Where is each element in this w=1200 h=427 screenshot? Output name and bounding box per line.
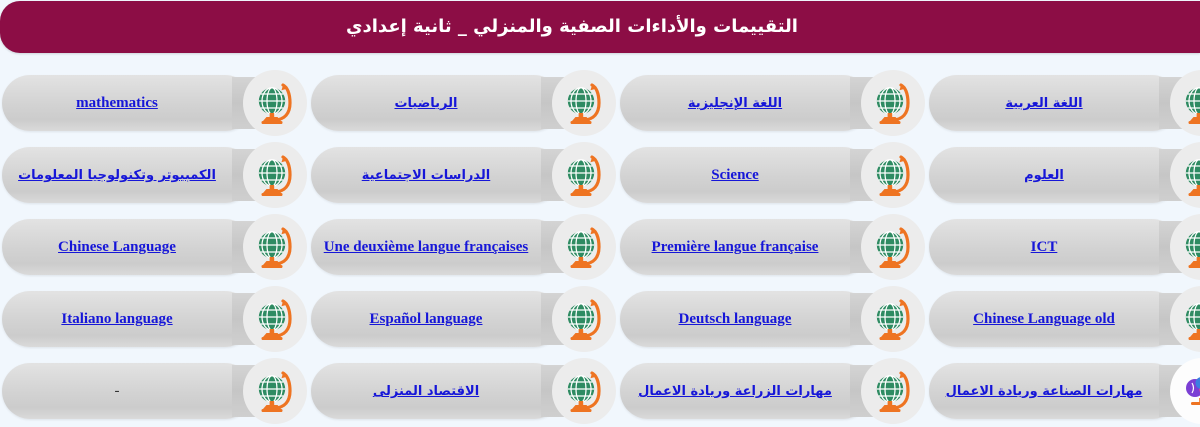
globe-icon[interactable] xyxy=(861,142,925,208)
subject-grid: mathematicsالرياضياتاللغة الإنجليزيةاللغ… xyxy=(0,67,1200,427)
subject-placeholder-text: - xyxy=(115,383,120,399)
subject-card[interactable]: Español language xyxy=(311,283,611,355)
subject-label-wrapper: Une deuxième langue françaises xyxy=(311,219,541,275)
globe-icon[interactable] xyxy=(861,70,925,136)
subject-card[interactable]: مهارات الصناعة وريادة الاعمال xyxy=(929,355,1200,427)
subject-label-wrapper: ICT xyxy=(929,219,1159,275)
subject-label-wrapper: العلوم xyxy=(929,147,1159,203)
subject-link[interactable]: الاقتصاد المنزلى xyxy=(373,384,479,399)
globe-icon[interactable] xyxy=(552,358,616,424)
page-title: التقييمات والأداءات الصفية والمنزلي _ ثا… xyxy=(0,1,1200,53)
subject-card[interactable]: Deutsch language xyxy=(620,283,920,355)
subject-label-wrapper: Italiano language xyxy=(2,291,232,347)
subject-row: mathematicsالرياضياتاللغة الإنجليزيةاللغ… xyxy=(0,67,1200,139)
subject-link[interactable]: اللغة الإنجليزية xyxy=(688,96,782,111)
subject-label-wrapper: اللغة العربية xyxy=(929,75,1159,131)
globe-icon[interactable] xyxy=(243,286,307,352)
subject-row: الكمبيوتر وتكنولوجيا المعلوماتالدراسات ا… xyxy=(0,139,1200,211)
subject-card[interactable]: Chinese Language old xyxy=(929,283,1200,355)
subject-link[interactable]: Español language xyxy=(370,311,483,327)
subject-card[interactable]: الرياضيات xyxy=(311,67,611,139)
subject-link[interactable]: الرياضيات xyxy=(394,96,457,111)
subject-link[interactable]: الدراسات الاجتماعية xyxy=(362,168,491,183)
subject-card[interactable]: Italiano language xyxy=(2,283,302,355)
subject-link[interactable]: Une deuxième langue françaises xyxy=(324,239,529,255)
subject-label-wrapper: الدراسات الاجتماعية xyxy=(311,147,541,203)
globe-icon[interactable] xyxy=(861,214,925,280)
subject-card[interactable]: اللغة الإنجليزية xyxy=(620,67,920,139)
subject-card[interactable]: Science xyxy=(620,139,920,211)
subject-row: -الاقتصاد المنزلىمهارات الزراعة وريادة ا… xyxy=(0,355,1200,427)
globe-icon[interactable] xyxy=(243,214,307,280)
subject-label-wrapper: الرياضيات xyxy=(311,75,541,131)
subject-card[interactable]: مهارات الزراعة وريادة الاعمال xyxy=(620,355,920,427)
subject-label-wrapper: Première langue française xyxy=(620,219,850,275)
subject-row: Italiano languageEspañol language Deutsc… xyxy=(0,283,1200,355)
globe-icon[interactable] xyxy=(243,70,307,136)
subject-card[interactable]: mathematics xyxy=(2,67,302,139)
subject-link[interactable]: ICT xyxy=(1031,239,1058,255)
subject-label-wrapper: Science xyxy=(620,147,850,203)
globe-icon[interactable] xyxy=(861,286,925,352)
subject-link[interactable]: مهارات الزراعة وريادة الاعمال xyxy=(638,384,832,399)
subject-label-wrapper: Español language xyxy=(311,291,541,347)
subject-link[interactable]: مهارات الصناعة وريادة الاعمال xyxy=(946,384,1143,399)
subject-link[interactable]: Italiano language xyxy=(61,311,172,327)
subject-link[interactable]: العلوم xyxy=(1024,168,1064,183)
globe-icon[interactable] xyxy=(552,214,616,280)
globe-icon[interactable] xyxy=(243,142,307,208)
subject-card[interactable]: Première langue française xyxy=(620,211,920,283)
subject-link[interactable]: اللغة العربية xyxy=(1005,96,1082,111)
subject-card[interactable]: اللغة العربية xyxy=(929,67,1200,139)
subject-label-wrapper: Chinese Language xyxy=(2,219,232,275)
subject-card[interactable]: Une deuxième langue françaises xyxy=(311,211,611,283)
globe-icon[interactable] xyxy=(552,286,616,352)
subject-card[interactable]: - xyxy=(2,355,302,427)
subject-link[interactable]: Deutsch language xyxy=(679,311,792,327)
subject-label-wrapper: مهارات الزراعة وريادة الاعمال xyxy=(620,363,850,419)
subject-label-wrapper: mathematics xyxy=(2,75,232,131)
subject-link[interactable]: Première langue française xyxy=(652,239,819,255)
subject-link[interactable]: Chinese Language old xyxy=(973,311,1115,327)
subject-card[interactable]: الدراسات الاجتماعية xyxy=(311,139,611,211)
subject-label-wrapper: الاقتصاد المنزلى xyxy=(311,363,541,419)
subject-card[interactable]: الاقتصاد المنزلى xyxy=(311,355,611,427)
subject-link[interactable]: Chinese Language xyxy=(58,239,176,255)
subject-link[interactable]: Science xyxy=(711,167,758,183)
subject-label-wrapper: اللغة الإنجليزية xyxy=(620,75,850,131)
subject-card[interactable]: ICT xyxy=(929,211,1200,283)
subject-card[interactable]: العلوم xyxy=(929,139,1200,211)
globe-icon[interactable] xyxy=(861,358,925,424)
subject-label-wrapper: الكمبيوتر وتكنولوجيا المعلومات xyxy=(2,147,232,203)
page-header-banner: التقييمات والأداءات الصفية والمنزلي _ ثا… xyxy=(0,1,1200,53)
subject-label-wrapper: Deutsch language xyxy=(620,291,850,347)
subject-label-wrapper: مهارات الصناعة وريادة الاعمال xyxy=(929,363,1159,419)
globe-icon[interactable] xyxy=(243,358,307,424)
subject-label-wrapper: Chinese Language old xyxy=(929,291,1159,347)
subject-label-wrapper: - xyxy=(2,363,232,419)
subject-row: Chinese LanguageUne deuxième langue fran… xyxy=(0,211,1200,283)
globe-icon[interactable] xyxy=(552,70,616,136)
subject-link[interactable]: mathematics xyxy=(76,95,158,111)
globe-icon[interactable] xyxy=(552,142,616,208)
subject-card[interactable]: الكمبيوتر وتكنولوجيا المعلومات xyxy=(2,139,302,211)
subject-card[interactable]: Chinese Language xyxy=(2,211,302,283)
subject-link[interactable]: الكمبيوتر وتكنولوجيا المعلومات xyxy=(18,168,216,183)
